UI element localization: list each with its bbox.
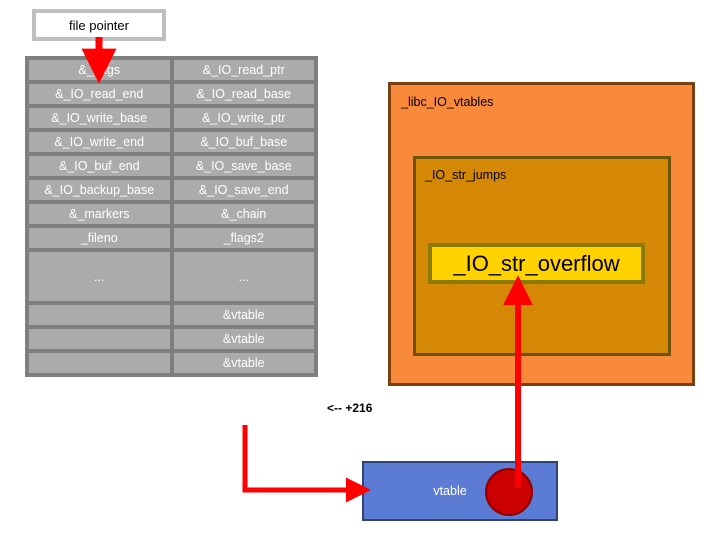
struct-cell-right: &_IO_read_ptr [172,58,317,82]
file-struct-table: &_flags&_IO_read_ptr&_IO_read_end&_IO_re… [25,56,318,377]
struct-cell-left: ... [27,250,172,303]
io-str-jumps-label: _IO_str_jumps [425,168,506,182]
struct-cell-left: &_IO_read_end [27,82,172,106]
struct-row: &_IO_write_base&_IO_write_ptr [27,106,316,130]
struct-cell-right: ... [172,250,317,303]
struct-cell-left: &_IO_write_base [27,106,172,130]
vtable-offset-annotation: <-- +216 [327,401,372,415]
struct-cell-right: &vtable [172,351,317,375]
vtable-box-label: vtable [433,484,466,498]
struct-row: &_markers&_chain [27,202,316,226]
file-pointer-callout: file pointer [32,9,166,41]
io-str-overflow-highlight: _IO_str_overflow [428,243,645,284]
struct-cell-left [27,327,172,351]
struct-row: &_IO_buf_end&_IO_save_base [27,154,316,178]
struct-cell-right: &_IO_write_ptr [172,106,317,130]
struct-row: &vtable [27,351,316,375]
struct-cell-left: &_IO_buf_end [27,154,172,178]
struct-row: _fileno_flags2 [27,226,316,250]
diagram-canvas: file pointer &_flags&_IO_read_ptr&_IO_re… [0,0,707,546]
vtable-entry-dot [485,468,533,516]
struct-cell-right: &_chain [172,202,317,226]
vtable-pointer-arrow [245,425,357,490]
struct-cell-right: &_IO_save_end [172,178,317,202]
struct-cell-left: &_flags [27,58,172,82]
struct-row: ...... [27,250,316,303]
struct-cell-right: &_IO_read_base [172,82,317,106]
struct-cell-left: _fileno [27,226,172,250]
struct-cell-left: &_markers [27,202,172,226]
struct-cell-right: &vtable [172,303,317,327]
struct-cell-left: &_IO_backup_base [27,178,172,202]
struct-row: &vtable [27,327,316,351]
struct-row: &_IO_read_end&_IO_read_base [27,82,316,106]
struct-cell-left: &_IO_write_end [27,130,172,154]
struct-cell-right: _flags2 [172,226,317,250]
struct-row: &_IO_write_end&_IO_buf_base [27,130,316,154]
struct-cell-left [27,303,172,327]
struct-cell-left [27,351,172,375]
struct-row: &_IO_backup_base&_IO_save_end [27,178,316,202]
struct-row: &vtable [27,303,316,327]
struct-cell-right: &_IO_save_base [172,154,317,178]
libc-io-vtables-label: _libc_IO_vtables [401,95,493,109]
struct-cell-right: &vtable [172,327,317,351]
struct-cell-right: &_IO_buf_base [172,130,317,154]
file-pointer-label: file pointer [36,13,162,37]
struct-row: &_flags&_IO_read_ptr [27,58,316,82]
